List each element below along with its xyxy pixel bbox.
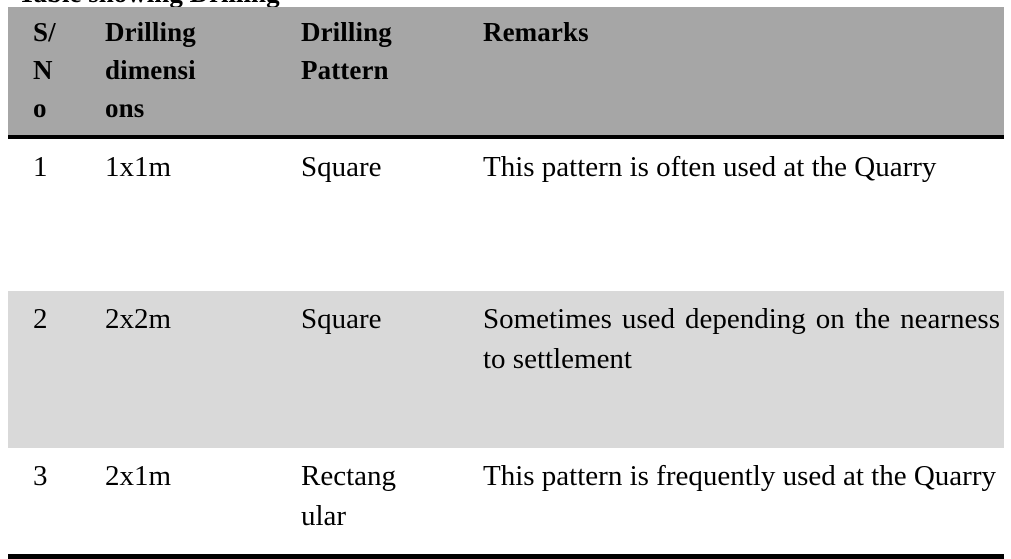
table-header: S/ N o Drilling dimensi ons Drilling Pat… — [8, 7, 1004, 137]
cell-drilling-dimensions: 2x2m — [95, 291, 291, 448]
column-header-remarks-line-1: Remarks — [483, 14, 994, 52]
cell-drilling-dimensions: 2x1m — [95, 448, 291, 557]
cell-drilling-pattern: Rectang ular — [291, 448, 473, 557]
cell-remarks: Sometimes used depending on the nearness… — [473, 291, 1004, 448]
cell-drilling-dimensions: 1x1m — [95, 137, 291, 291]
column-header-drilling-pattern-line-2: Pattern — [301, 52, 463, 90]
table-row: 2 2x2m Square Sometimes used depending o… — [8, 291, 1004, 448]
table-caption-text: Table showing Drilling — [18, 0, 280, 7]
column-header-serial-number-line-2: N — [33, 52, 85, 90]
table-body: 1 1x1m Square This pattern is often used… — [8, 137, 1004, 557]
cell-serial-number: 2 — [8, 291, 95, 448]
column-header-drilling-dimensions-line-1: Drilling — [105, 14, 281, 52]
column-header-serial-number: S/ N o — [8, 7, 95, 137]
cell-drilling-pattern-line-1: Square — [301, 148, 463, 187]
drilling-dimensions-table: S/ N o Drilling dimensi ons Drilling Pat… — [8, 7, 1004, 559]
cell-drilling-pattern-line-1: Rectang — [301, 457, 463, 496]
column-header-drilling-dimensions: Drilling dimensi ons — [95, 7, 291, 137]
cell-remarks: This pattern is often used at the Quarry — [473, 137, 1004, 291]
table-container: S/ N o Drilling dimensi ons Drilling Pat… — [8, 7, 1004, 559]
column-header-drilling-pattern: Drilling Pattern — [291, 7, 473, 137]
table-row: 1 1x1m Square This pattern is often used… — [8, 137, 1004, 291]
cell-serial-number: 3 — [8, 448, 95, 557]
column-header-drilling-dimensions-line-2: dimensi — [105, 52, 281, 90]
cell-serial-number: 1 — [8, 137, 95, 291]
table-row: 3 2x1m Rectang ular This pattern is freq… — [8, 448, 1004, 557]
cell-drilling-pattern: Square — [291, 291, 473, 448]
cell-drilling-pattern-line-2: ular — [301, 497, 463, 536]
column-header-drilling-dimensions-line-3: ons — [105, 90, 281, 128]
column-header-serial-number-line-3: o — [33, 90, 85, 128]
column-header-remarks: Remarks — [473, 7, 1004, 137]
table-header-row: S/ N o Drilling dimensi ons Drilling Pat… — [8, 7, 1004, 137]
column-header-drilling-pattern-line-1: Drilling — [301, 14, 463, 52]
cell-drilling-pattern: Square — [291, 137, 473, 291]
column-header-serial-number-line-1: S/ — [33, 14, 85, 52]
cell-drilling-pattern-line-1: Square — [301, 300, 463, 339]
table-caption-sliver: Table showing Drilling — [0, 0, 1011, 7]
cell-remarks: This pattern is frequently used at the Q… — [473, 448, 1004, 557]
